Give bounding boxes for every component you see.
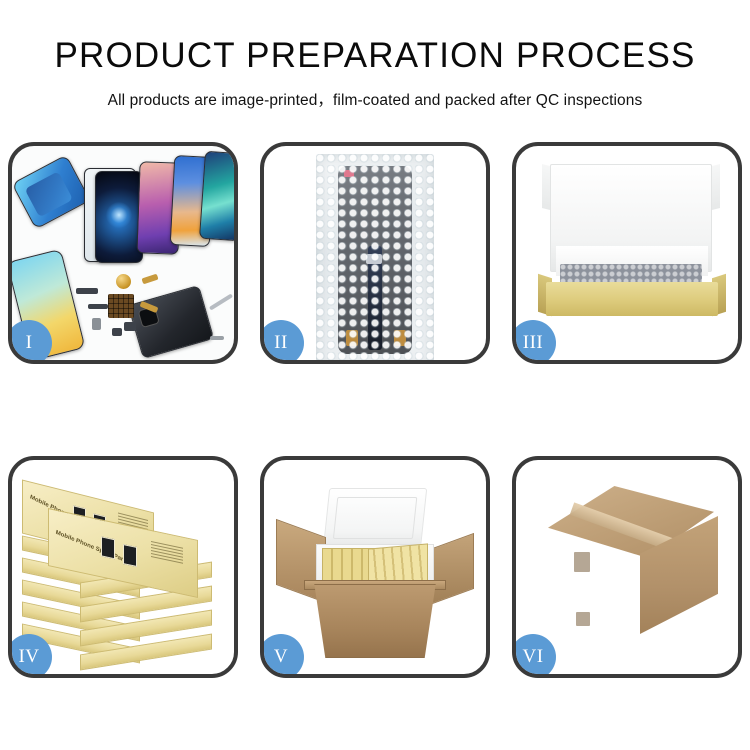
product-preparation-infographic: PRODUCT PREPARATION PROCESS All products… xyxy=(0,0,750,750)
box-printed-screen-b1 xyxy=(101,536,115,559)
part-button-set xyxy=(88,304,108,309)
part-connector-small xyxy=(112,328,122,336)
part-flex-cable-right xyxy=(141,274,158,285)
bubble-wrap-bag xyxy=(316,154,434,360)
part-screw-cluster xyxy=(210,336,224,340)
part-chip-grid xyxy=(108,294,134,318)
carton-flap-seam-upper xyxy=(574,552,590,572)
box-label-text-lower: Mobile Phone Spare Parts xyxy=(55,530,129,565)
step-badge-6: VI xyxy=(512,634,556,678)
process-step-panel-4: Mobile Phone Spare Parts Mobile Phone Sp… xyxy=(8,456,238,678)
bubble-texture xyxy=(316,154,434,360)
part-camera-module xyxy=(124,322,136,331)
foam-lid-open xyxy=(323,488,428,550)
carton-flap-seam-lower xyxy=(576,612,590,626)
phone-screen-dark-blue xyxy=(95,171,143,263)
step-badge-5: V xyxy=(260,634,304,678)
process-steps-grid: I II xyxy=(8,142,742,678)
phone-back-housing xyxy=(128,285,215,359)
part-sim-tray xyxy=(92,318,101,330)
carton-body xyxy=(306,584,444,658)
part-tool-tweezers xyxy=(209,293,233,310)
step-badge-4: IV xyxy=(8,634,52,678)
box-base-yellow xyxy=(546,282,718,316)
part-vibration-motor xyxy=(116,274,131,289)
process-step-panel-5: V xyxy=(260,456,490,678)
part-speaker-mesh xyxy=(76,288,98,294)
step-badge-3: III xyxy=(512,320,556,364)
process-step-panel-1: I xyxy=(8,142,238,364)
process-step-panel-3: III xyxy=(512,142,742,364)
header: PRODUCT PREPARATION PROCESS All products… xyxy=(0,0,750,110)
step-badge-1: I xyxy=(8,320,52,364)
step-badge-2: II xyxy=(260,320,304,364)
box-printed-screen-b2 xyxy=(123,544,137,567)
phone-screen-teal xyxy=(199,151,234,242)
page-subtitle: All products are image-printed，film-coat… xyxy=(0,88,750,110)
page-title: PRODUCT PREPARATION PROCESS xyxy=(0,36,750,76)
box-spec-lines-lower xyxy=(151,541,183,566)
process-step-panel-6: VI xyxy=(512,456,742,678)
screen-protector-film xyxy=(12,154,91,229)
process-step-panel-2: II xyxy=(260,142,490,364)
